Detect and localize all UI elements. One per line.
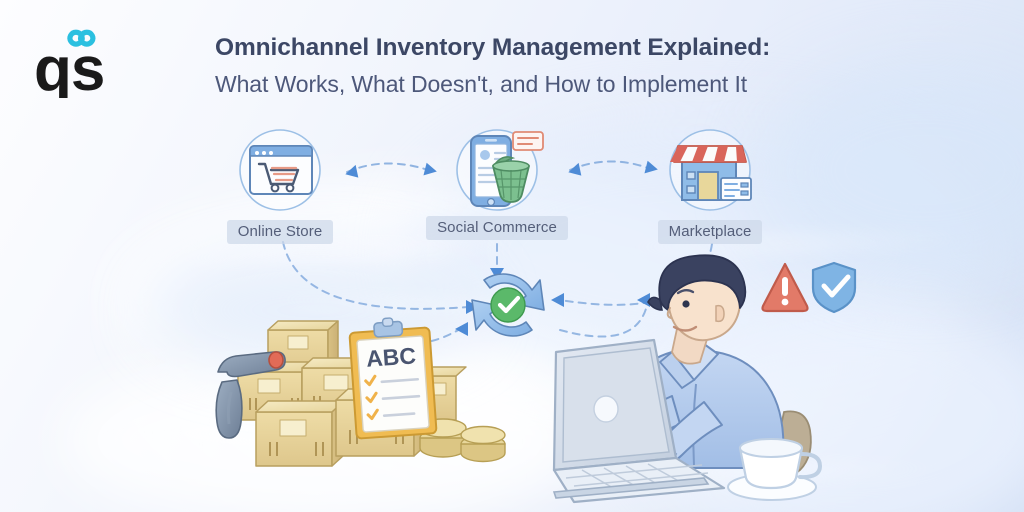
channel-label-social-commerce: Social Commerce <box>426 216 568 240</box>
channel-label-online-store: Online Store <box>227 220 334 244</box>
banner: qs Omnichannel Inventory Management Expl… <box>0 0 1024 512</box>
clipboard-icon: ABC <box>349 316 436 438</box>
channel-node-social-commerce[interactable]: Social Commerce <box>422 124 572 240</box>
storefront-icon <box>658 128 762 216</box>
illustration: ABC <box>0 0 1024 512</box>
clipboard-heading: ABC <box>365 342 417 371</box>
shield-check-icon <box>813 263 855 312</box>
warning-triangle-icon <box>763 264 808 311</box>
channel-node-marketplace[interactable]: Marketplace <box>635 128 785 244</box>
phone-basket-icon <box>445 124 549 212</box>
channel-node-online-store[interactable]: Online Store <box>205 128 355 244</box>
sync-hub-icon <box>472 274 544 336</box>
browser-cart-icon <box>228 128 332 216</box>
channel-label-marketplace: Marketplace <box>658 220 763 244</box>
eye <box>682 300 689 307</box>
